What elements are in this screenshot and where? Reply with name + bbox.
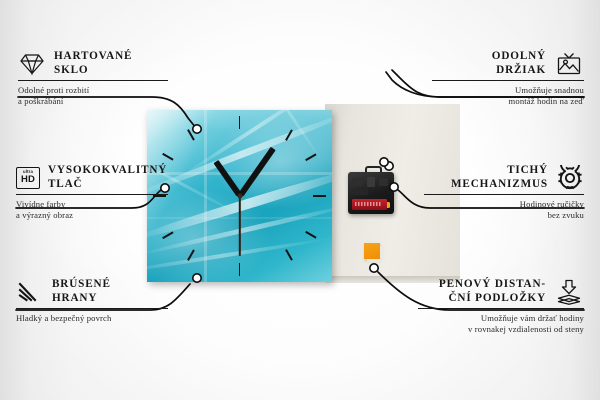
- feature-title-line: BRÚSENÉ: [52, 278, 111, 292]
- feature-heading: PENOVÝ DISTAN- ČNÍ PODLOŽKY: [418, 278, 584, 305]
- feature-divider: [18, 80, 168, 81]
- feature-desc-line: Umožňuje vám držať hodiny: [418, 313, 584, 324]
- ultra-hd-badge-main: HD: [21, 175, 35, 185]
- feature-title-line: ČNÍ PODLOŽKY: [439, 292, 546, 306]
- feature-ground-edges: BRÚSENÉ HRANY Hladký a bezpečný povrch: [16, 278, 168, 324]
- feature-divider: [424, 194, 584, 195]
- feature-durable-hanger: ODOLNÝ DRŽIAK Umožňuje snadnou montáž ho…: [432, 50, 584, 107]
- ultra-hd-badge-icon: ultra HD: [16, 167, 40, 189]
- feature-desc-line: v rovnakej vzdialenosti od steny: [418, 324, 584, 335]
- feature-title-line: MECHANIZMUS: [451, 178, 548, 192]
- feature-title-line: TICHÝ: [451, 164, 548, 178]
- diamond-icon: [18, 52, 46, 76]
- connector-dot: [193, 125, 201, 133]
- feature-desc-line: Umožňuje snadnou: [432, 85, 584, 96]
- connector-dot: [380, 158, 388, 166]
- feature-tempered-glass: HARTOVANÉ SKLO Odolné proti rozbití a po…: [18, 50, 168, 107]
- feature-desc-line: Odolné proti rozbití: [18, 85, 168, 96]
- feature-desc-line: montáž hodin na zeď: [432, 96, 584, 107]
- feature-divider: [16, 308, 168, 309]
- feature-divider: [432, 80, 584, 81]
- feature-heading: ultra HD VYSOKOKVALITNÝ TLAČ: [16, 164, 168, 191]
- feature-desc-line: a poškrábání: [18, 96, 168, 107]
- infographic-canvas: HARTOVANÉ SKLO Odolné proti rozbití a po…: [0, 0, 600, 400]
- feature-title-line: PENOVÝ DISTAN-: [439, 278, 546, 292]
- gear-icon: [556, 165, 584, 191]
- feature-divider: [16, 194, 168, 195]
- connector-dot: [390, 183, 398, 191]
- feature-desc-line: a výrazný obraz: [16, 210, 168, 221]
- feature-silent-mechanism: TICHÝ MECHANIZMUS Hodinové ručičky bez z…: [424, 164, 584, 221]
- feature-heading: BRÚSENÉ HRANY: [16, 278, 168, 305]
- feature-desc-line: Hodinové ručičky: [424, 199, 584, 210]
- connector-dot: [370, 264, 378, 272]
- clock-hand-hub: [237, 194, 242, 199]
- feature-title-line: SKLO: [54, 64, 132, 78]
- feature-heading: HARTOVANÉ SKLO: [18, 50, 168, 77]
- feature-title-line: HARTOVANÉ: [54, 50, 132, 64]
- feature-high-quality-print: ultra HD VYSOKOKVALITNÝ TLAČ Vivídne far…: [16, 164, 168, 221]
- feature-desc-line: Hladký a bezpečný povrch: [16, 313, 168, 324]
- foam-spacer-icon: [554, 279, 584, 305]
- feature-desc-line: Vivídne farby: [16, 199, 168, 210]
- feature-heading: ODOLNÝ DRŽIAK: [432, 50, 584, 77]
- feature-title-line: DRŽIAK: [492, 64, 546, 78]
- connector-dot: [193, 274, 201, 282]
- clock-second-hand: [239, 196, 241, 256]
- feature-title-line: HRANY: [52, 292, 111, 306]
- ground-edges-icon: [16, 280, 44, 304]
- feature-title-line: TLAČ: [48, 178, 167, 192]
- feature-title-line: VYSOKOKVALITNÝ: [48, 164, 167, 178]
- picture-hanger-icon: [554, 51, 584, 77]
- feature-heading: TICHÝ MECHANIZMUS: [424, 164, 584, 191]
- feature-desc-line: bez zvuku: [424, 210, 584, 221]
- feature-divider: [418, 308, 584, 309]
- feature-foam-spacers: PENOVÝ DISTAN- ČNÍ PODLOŽKY Umožňuje vám…: [418, 278, 584, 335]
- feature-title-line: ODOLNÝ: [492, 50, 546, 64]
